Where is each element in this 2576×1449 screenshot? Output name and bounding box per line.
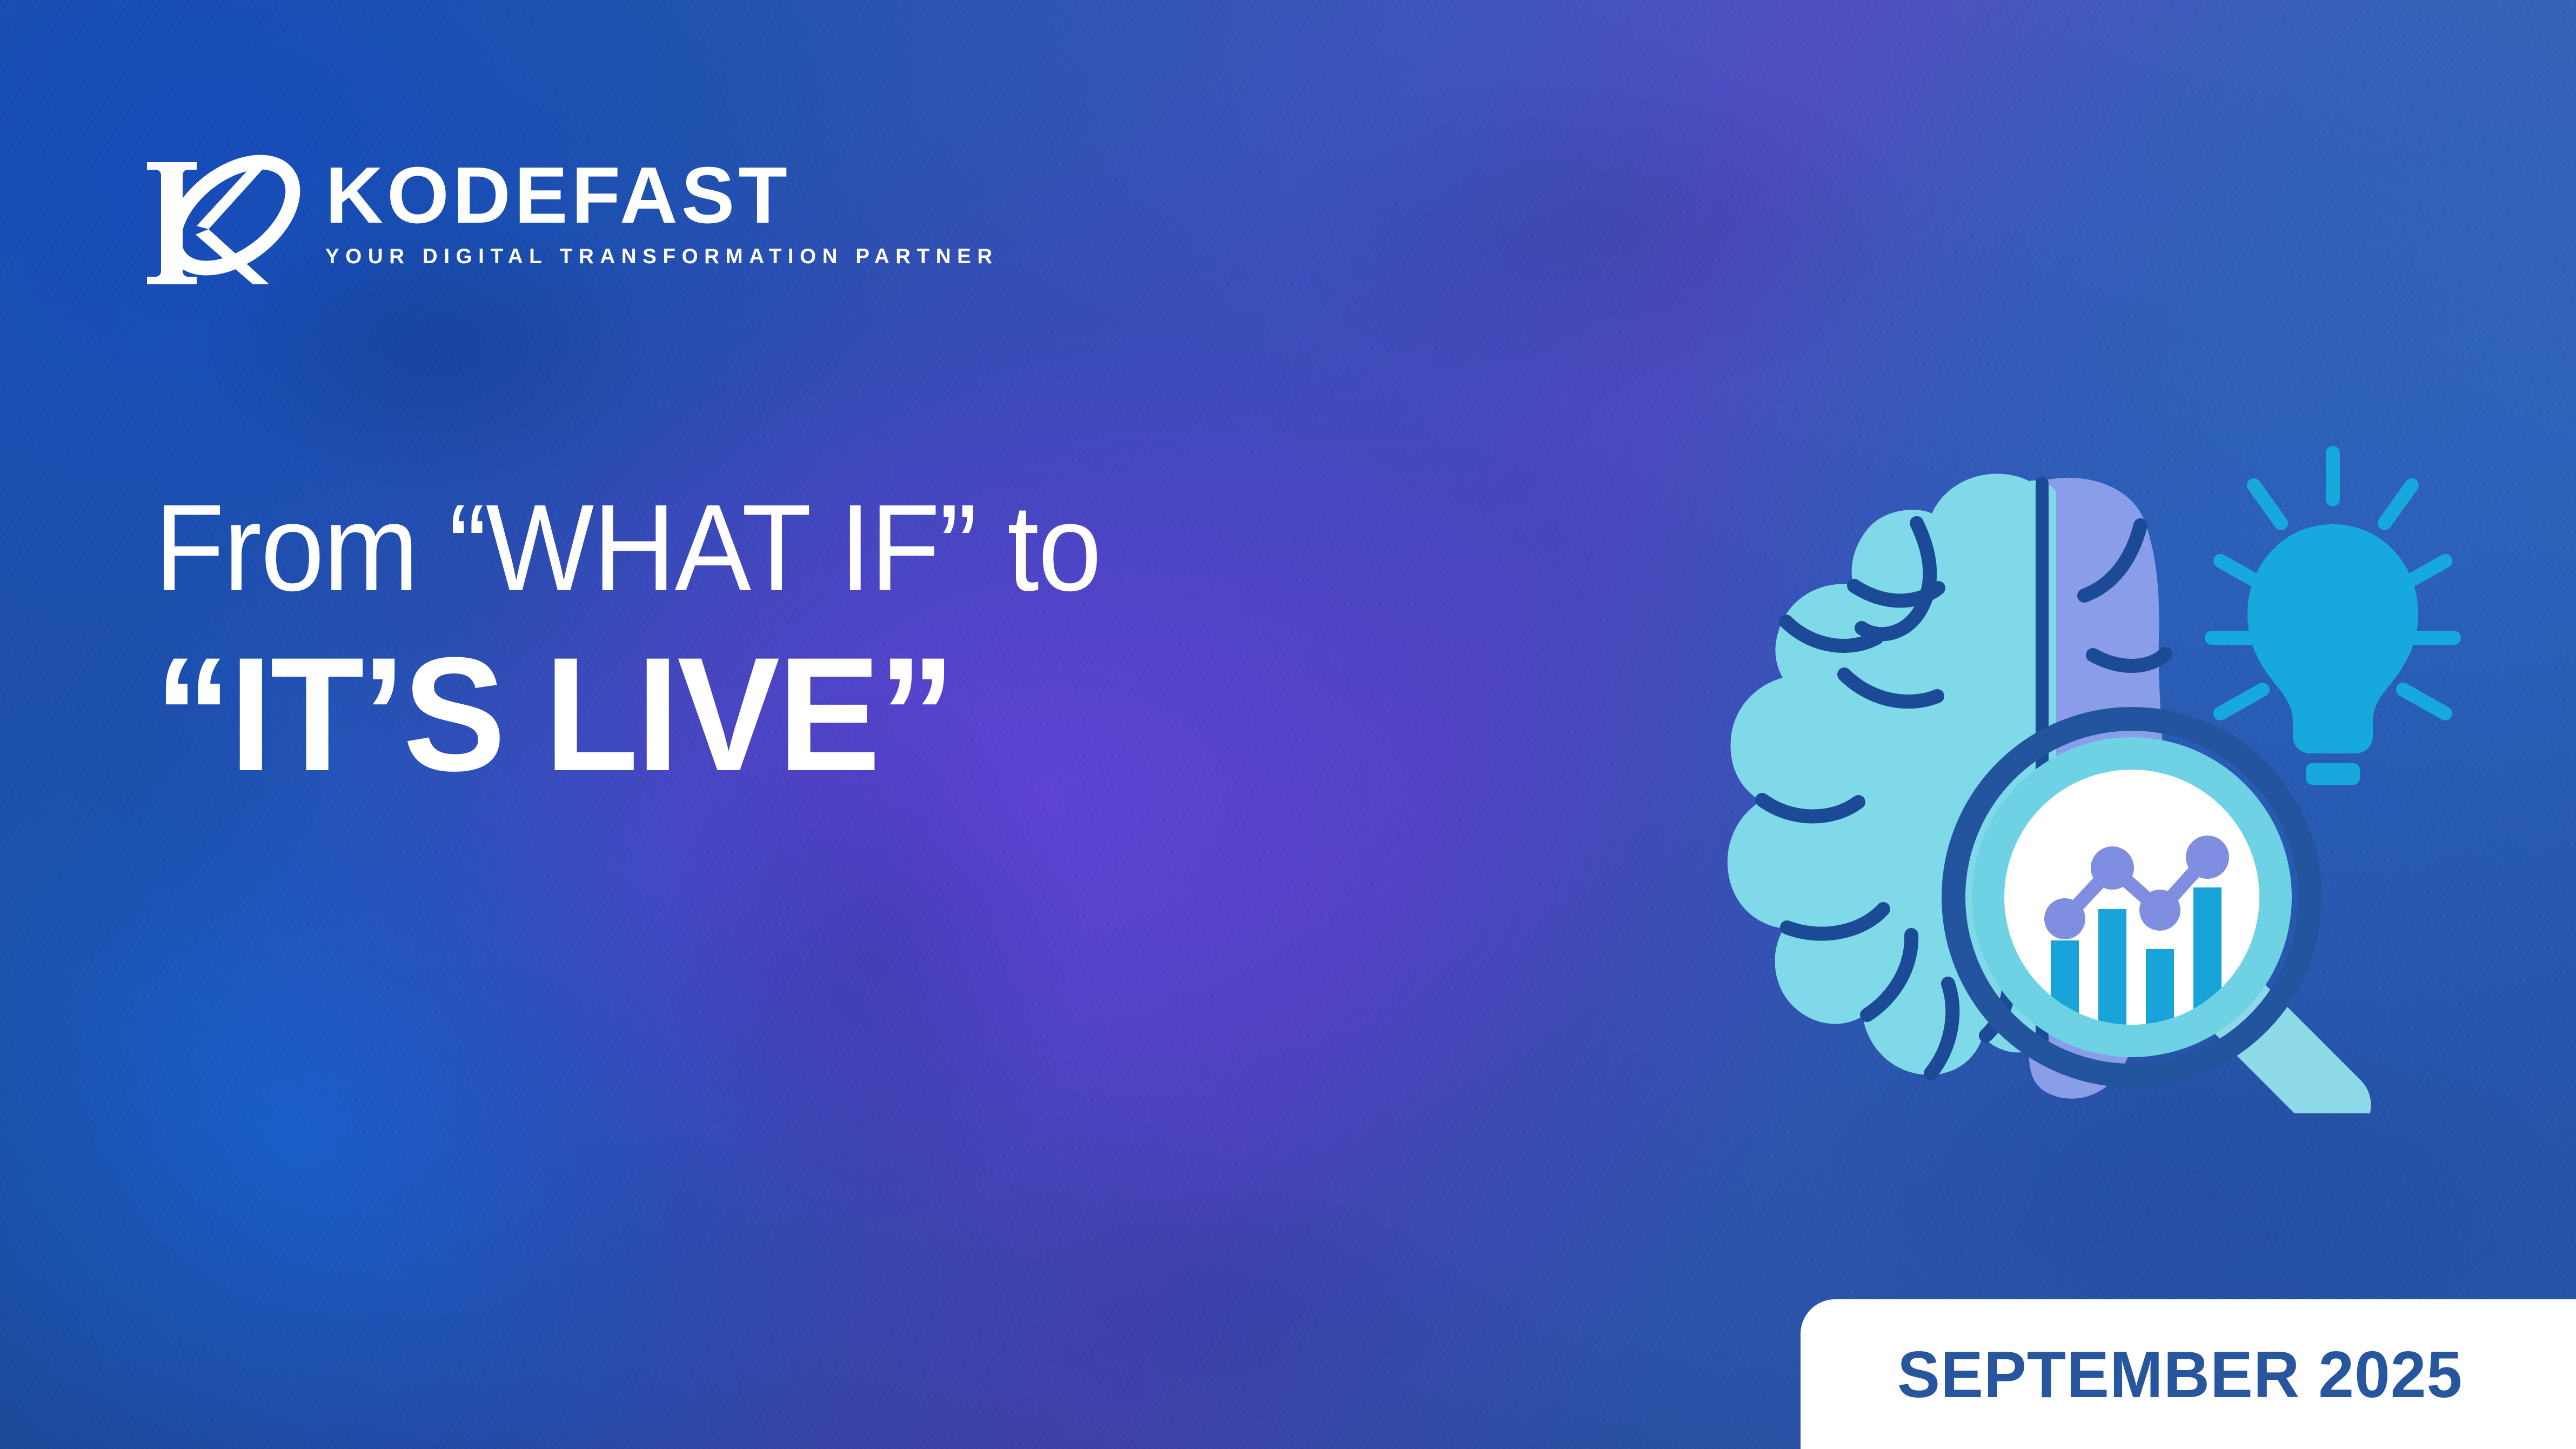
lightbulb-icon <box>2212 453 2454 785</box>
brand-name: KODEFAST <box>325 158 999 234</box>
headline-line-2: “IT’S LIVE” <box>155 629 1695 799</box>
headline-line-1: From “WHAT IF” to <box>155 486 1662 610</box>
brand-tagline: YOUR DIGITAL TRANSFORMATION PARTNER <box>325 245 999 269</box>
brand-logo-text: KODEFAST YOUR DIGITAL TRANSFORMATION PAR… <box>325 134 999 269</box>
headline: From “WHAT IF” to “IT’S LIVE” <box>155 486 1776 799</box>
date-badge: SEPTEMBER 2025 <box>1801 1299 2576 1449</box>
date-badge-label: SEPTEMBER 2025 <box>1897 1337 2463 1412</box>
kodefast-k-orbit-icon <box>128 134 306 312</box>
brand-logo[interactable]: KODEFAST YOUR DIGITAL TRANSFORMATION PAR… <box>128 134 999 312</box>
brain-lightbulb-magnifier-analytics-illustration <box>1705 443 2472 1113</box>
marketing-banner: KODEFAST YOUR DIGITAL TRANSFORMATION PAR… <box>0 0 2576 1449</box>
